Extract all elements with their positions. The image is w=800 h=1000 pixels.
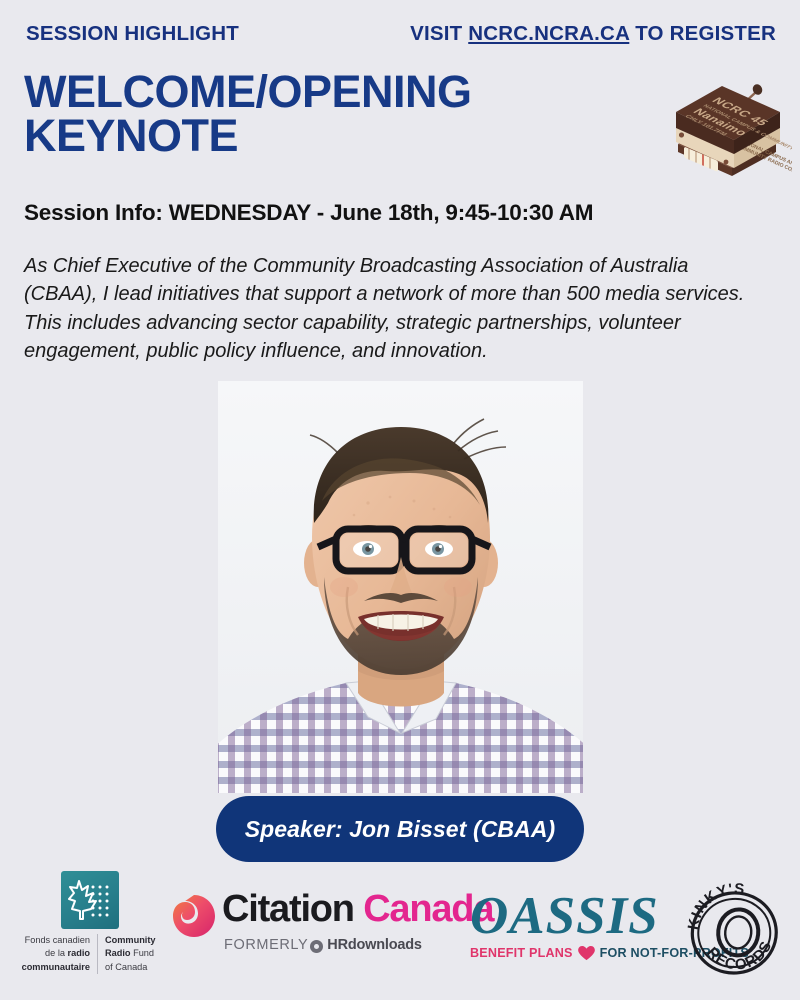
- crfc-fr-line2-bold: radio: [68, 948, 90, 958]
- radio-icon: NATIONAL CAMPUS AND COMMUNITY RADIO CONF…: [664, 52, 792, 180]
- heart-icon: [578, 946, 595, 961]
- citation-canada-wordmark: Citation Canada: [222, 890, 493, 928]
- sponsor-logo-oassis: OASSIS BENEFIT PLANS FOR NOT-FOR-PROFITS: [470, 890, 682, 975]
- crfc-en-line2: Radio Fund: [105, 947, 156, 960]
- citation-swirl-icon: [172, 894, 216, 938]
- sponsor-logo-crfc: Fonds canadien de la radio communautaire…: [16, 871, 186, 991]
- crfc-fr-line2-plain: de la: [45, 948, 67, 958]
- hrdownloads-mark-icon: [310, 940, 323, 953]
- speaker-name-label: Speaker: Jon Bisset (CBAA): [245, 816, 556, 843]
- sponsor-logo-kinkys-records: KINKY'S RECORDS: [682, 879, 786, 983]
- oassis-tagline: BENEFIT PLANS FOR NOT-FOR-PROFITS: [470, 945, 682, 960]
- session-highlight-poster: SESSION HIGHLIGHT VISIT NCRC.NCRA.CA TO …: [0, 0, 800, 1000]
- crfc-fr-line3: communautaire: [16, 961, 90, 974]
- speaker-name-badge: Speaker: Jon Bisset (CBAA): [216, 796, 584, 862]
- sponsor-logo-citation-canada: Citation Canada FORMERLY HRdownloads: [172, 887, 457, 977]
- speaker-photo: [218, 381, 583, 793]
- speaker-bio: As Chief Executive of the Community Broa…: [24, 252, 764, 366]
- page-title-line2: KEYNOTE: [24, 114, 644, 158]
- crfc-fr-line1: Fonds canadien: [16, 934, 90, 947]
- svg-text:KINKY'S: KINKY'S: [682, 879, 752, 933]
- crfc-en-line3: of Canada: [105, 961, 156, 974]
- register-prefix: VISIT: [410, 22, 468, 45]
- crfc-french-text: Fonds canadien de la radio communautaire: [16, 934, 98, 974]
- crfc-maple-leaf-icon: [61, 871, 119, 929]
- citation-word: Citation: [222, 888, 354, 930]
- session-info: Session Info: WEDNESDAY - June 18th, 9:4…: [24, 200, 593, 226]
- header-eyebrow-row: SESSION HIGHLIGHT VISIT NCRC.NCRA.CA TO …: [26, 22, 776, 46]
- crfc-en-line1: Community: [105, 934, 156, 947]
- crfc-wordmark: Fonds canadien de la radio communautaire…: [16, 934, 188, 974]
- kinkys-records-stamp-icon: KINKY'S RECORDS: [682, 879, 786, 983]
- hrdownloads-text: HRdownloads: [327, 937, 421, 953]
- crfc-en-line2-bold: Radio: [105, 948, 131, 958]
- speaker-portrait-illustration: [218, 381, 583, 793]
- session-highlight-label: SESSION HIGHLIGHT: [26, 22, 239, 46]
- conference-url-link[interactable]: NCRC.NCRA.CA: [468, 22, 629, 45]
- oassis-benefit-plans-text: BENEFIT PLANS: [470, 946, 573, 960]
- formerly-text: FORMERLY: [224, 937, 308, 953]
- crfc-english-text: Community Radio Fund of Canada: [98, 934, 156, 974]
- oassis-wordmark: OASSIS: [470, 890, 682, 943]
- sponsor-logo-row: Fonds canadien de la radio communautaire…: [0, 865, 800, 1000]
- crfc-fr-line2: de la radio: [16, 947, 90, 960]
- ncrc-radio-illustration: NATIONAL CAMPUS AND COMMUNITY RADIO CONF…: [664, 52, 792, 180]
- page-title: WELCOME/OPENING KEYNOTE: [24, 70, 644, 158]
- register-suffix: TO REGISTER: [629, 22, 776, 45]
- svg-text:RECORDS: RECORDS: [702, 936, 779, 978]
- register-callout: VISIT NCRC.NCRA.CA TO REGISTER: [410, 22, 776, 46]
- crfc-en-line2-plain: Fund: [131, 948, 155, 958]
- citation-formerly-line: FORMERLY HRdownloads: [224, 937, 422, 953]
